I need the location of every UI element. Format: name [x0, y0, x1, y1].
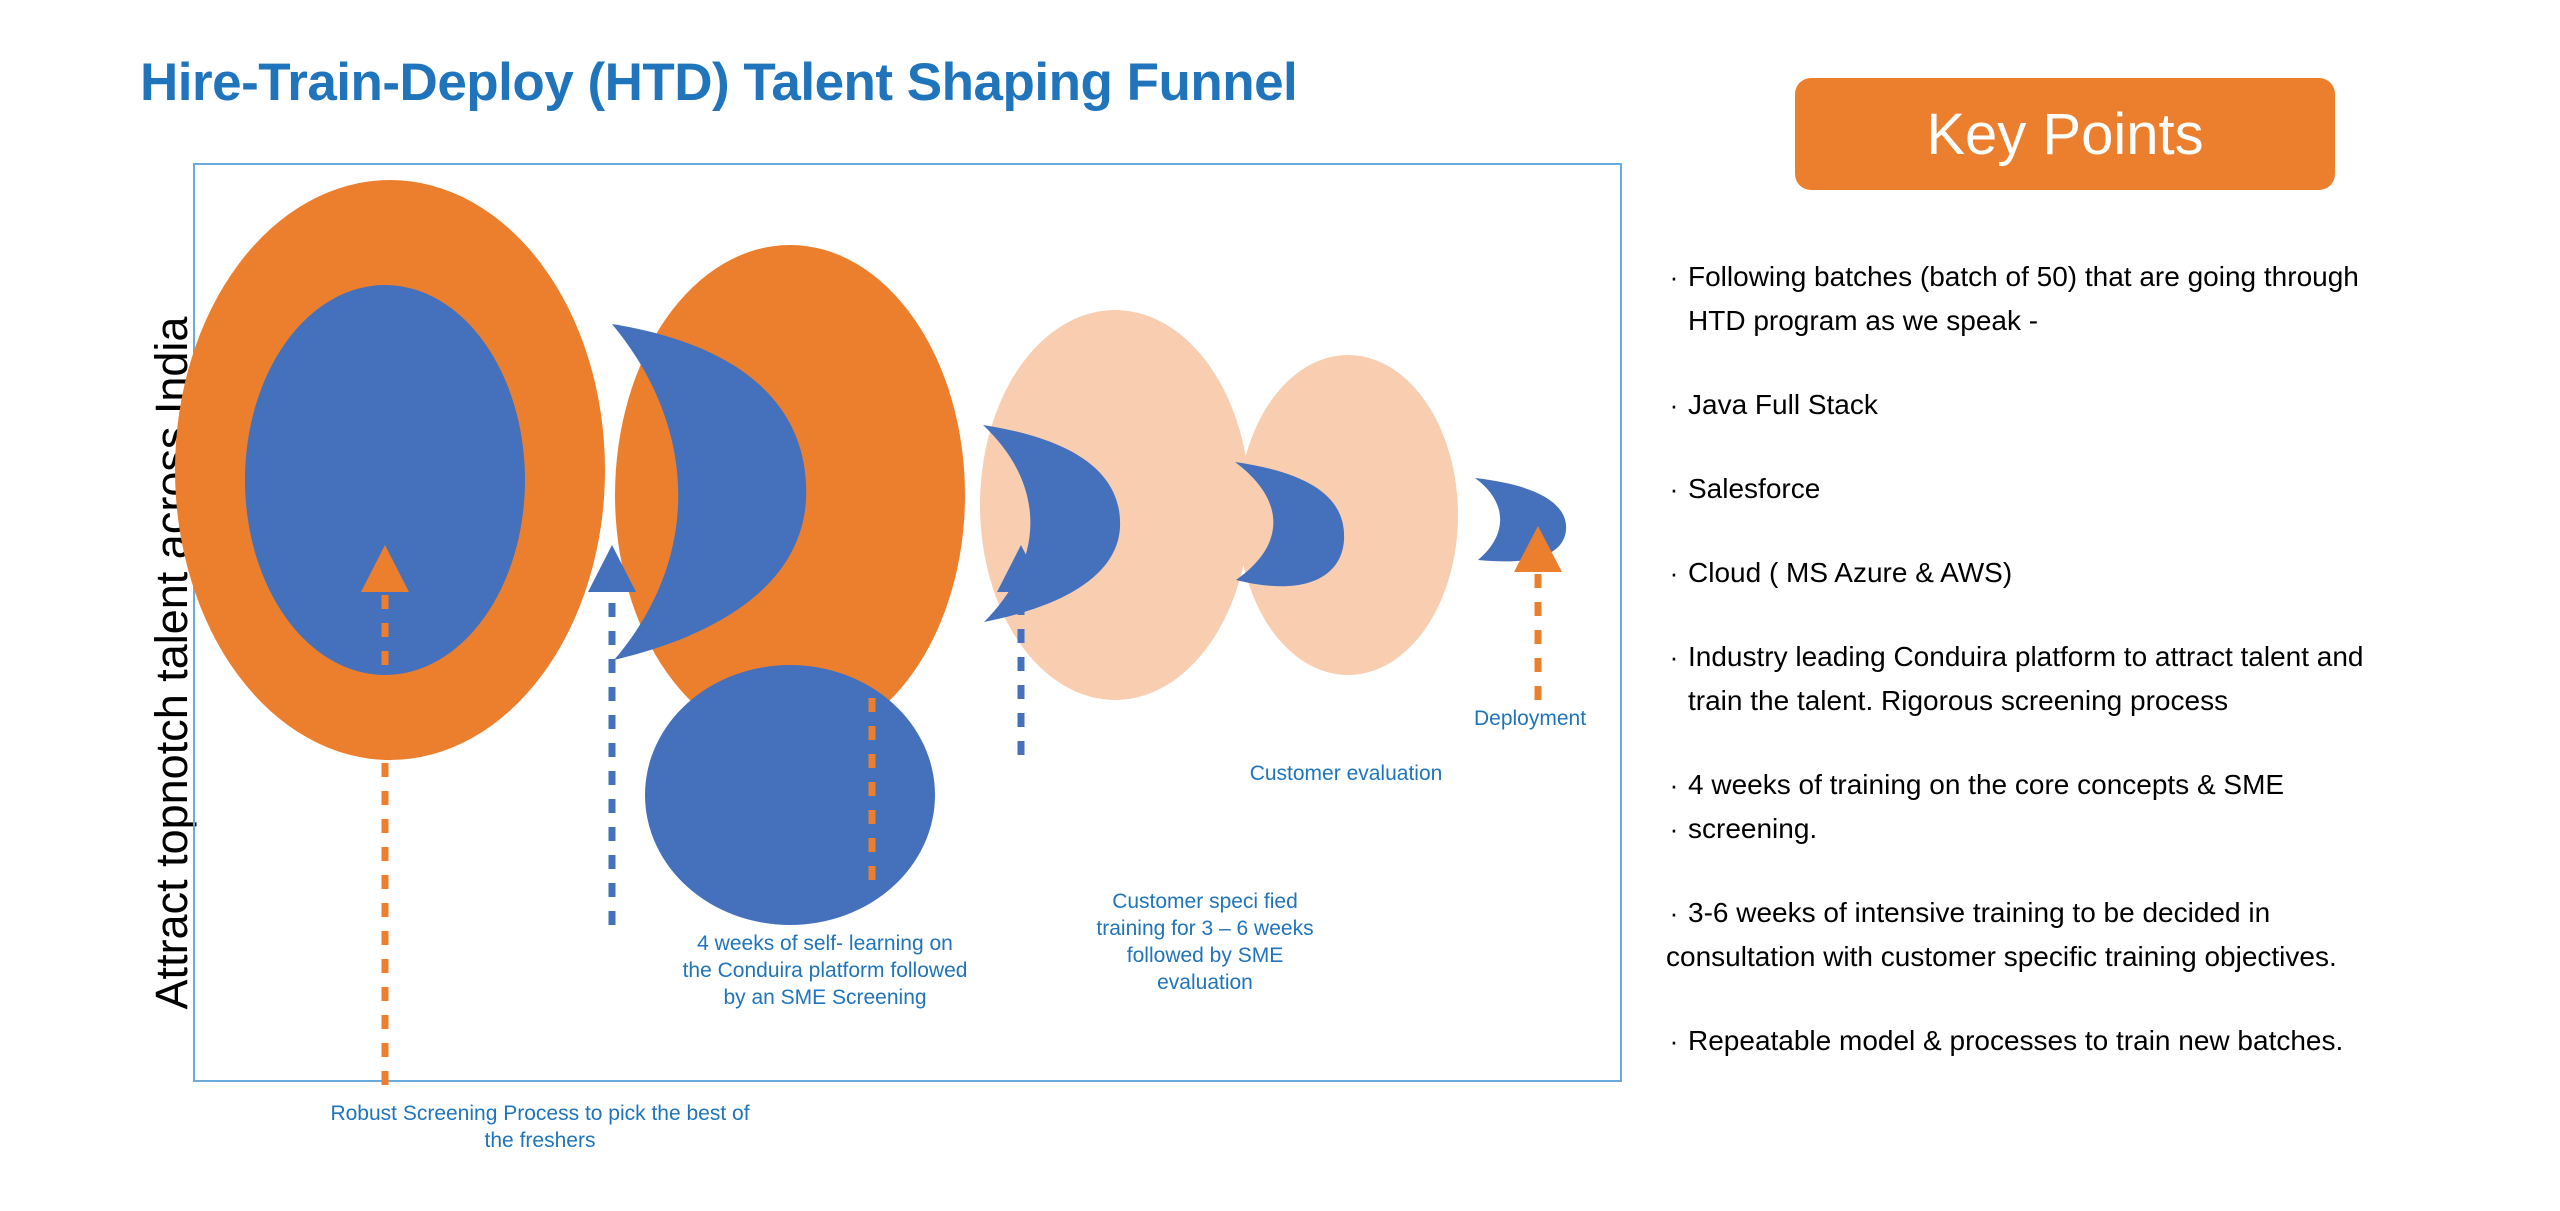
bullet-dot-icon: · [1660, 807, 1688, 851]
y-axis-label: Attract topnotch talent across India [146, 283, 198, 1043]
stage-3-label-line: evaluation [1157, 971, 1253, 994]
stage-3-label: Customer speci fied training for 3 – 6 w… [1080, 888, 1330, 996]
bullet-dot-icon: · [1660, 635, 1688, 679]
bullet-dot-icon: · [1660, 1019, 1688, 1063]
list-item-text: screening. [1688, 807, 2560, 851]
stage-3-label-line: for 3 – 6 weeks [1171, 917, 1313, 940]
list-item: · Repeatable model & processes to train … [1660, 1019, 2560, 1063]
list-item: · 4 weeks of training on the core concep… [1660, 763, 2560, 807]
list-item: · Salesforce [1660, 467, 2560, 511]
list-item-line: HTD program as we speak - [1688, 299, 2550, 343]
stage-2-label-line: 4 weeks of self- [697, 932, 843, 955]
stage-1-label-line: Robust Screening Process [330, 1102, 579, 1125]
bullet-dot-icon: · [1660, 763, 1688, 807]
bullet-dot-icon: · [1660, 551, 1688, 595]
stage-4-label-line: Customer [1250, 762, 1341, 785]
list-item: · Cloud ( MS Azure & AWS) [1660, 551, 2560, 595]
list-item-line: 4 weeks of training on the core concepts… [1688, 763, 2550, 807]
list-item: · Industry leading Conduira platform to … [1660, 635, 2560, 723]
list-item-text: 4 weeks of training on the core concepts… [1688, 763, 2560, 807]
list-item-text: Java Full Stack [1688, 383, 2560, 427]
bullet-dot-icon: · [1660, 467, 1688, 511]
list-item: · Following batches (batch of 50) that a… [1660, 255, 2560, 343]
page-title: Hire-Train-Deploy (HTD) Talent Shaping F… [140, 52, 1297, 113]
key-points-list: · Following batches (batch of 50) that a… [1660, 255, 2560, 1063]
list-item-line: Industry leading Conduira platform to at… [1688, 635, 2550, 679]
stage-3-label-line: followed by SME [1127, 944, 1283, 967]
stage-2-label: 4 weeks of self- learning on the Conduir… [680, 930, 970, 1011]
list-item-line: Cloud ( MS Azure & AWS) [1688, 551, 2550, 595]
list-item-line: train the talent. Rigorous screening pro… [1688, 679, 2550, 723]
list-item-text: Cloud ( MS Azure & AWS) [1688, 551, 2560, 595]
key-points-badge: Key Points [1795, 78, 2335, 190]
list-item-line: Following batches (batch of 50) that are… [1688, 255, 2550, 299]
list-item-line: screening. [1688, 807, 2550, 851]
list-item-line: Java Full Stack [1688, 383, 2550, 427]
stage-5-label-line: Deployment [1474, 707, 1586, 730]
stage-2-label-line: Conduira platform [718, 959, 885, 982]
list-item-line: Repeatable model & processes to train ne… [1688, 1019, 2550, 1063]
list-item-text: Repeatable model & processes to train ne… [1688, 1019, 2560, 1063]
stage-1-label-line: freshers [520, 1129, 596, 1152]
key-points-panel: Key Points · Following batches (batch of… [1660, 0, 2560, 1211]
stage-4-label: Customer evaluation [1236, 760, 1456, 787]
stage-1-label: Robust Screening Process to pick the bes… [330, 1100, 750, 1154]
list-item: · 3-6 weeks of intensive training to be … [1660, 891, 2560, 979]
stage-5-label: Deployment [1410, 705, 1650, 732]
bullet-dot-icon: · [1660, 255, 1688, 299]
list-item-text: 3-6 weeks of intensive training to be de… [1666, 891, 2560, 979]
list-item: · screening. [1660, 807, 2560, 851]
list-item-line: consultation with customer specific trai… [1666, 935, 2550, 979]
stage-3-label-line: Customer [1112, 890, 1203, 913]
stage-2-label-line: Screening [832, 986, 927, 1009]
list-item-line: 3-6 weeks of intensive training to be de… [1688, 891, 2550, 935]
list-item-text: Following batches (batch of 50) that are… [1688, 255, 2560, 343]
funnel-panel: Hire-Train-Deploy (HTD) Talent Shaping F… [0, 0, 1660, 1211]
list-item-text: Industry leading Conduira platform to at… [1688, 635, 2560, 723]
bullet-dot-icon: · [1660, 383, 1688, 427]
stage-4-label-line: evaluation [1347, 762, 1443, 785]
list-item: · Java Full Stack [1660, 383, 2560, 427]
list-item-line: Salesforce [1688, 467, 2550, 511]
list-item-text: Salesforce [1688, 467, 2560, 511]
